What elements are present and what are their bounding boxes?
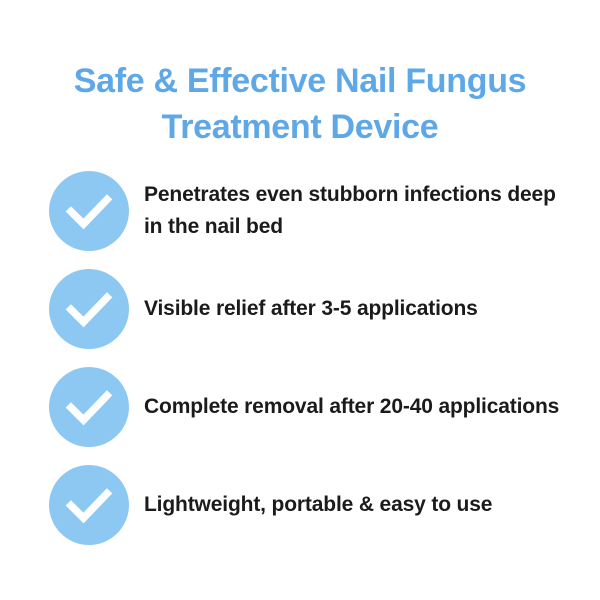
promo-poster: Safe & Effective Nail Fungus Treatment D…	[0, 0, 600, 600]
check-icon	[49, 367, 129, 447]
check-icon	[49, 171, 129, 251]
page-title-line-1: Safe & Effective Nail Fungus	[55, 58, 545, 104]
benefit-text: Lightweight, portable & easy to use	[144, 489, 600, 521]
benefit-list: Penetrates even stubborn infections deep…	[0, 162, 600, 554]
page-title-line-2: Treatment Device	[55, 104, 545, 150]
list-item: Complete removal after 20-40 application…	[0, 358, 600, 456]
check-icon	[49, 465, 129, 545]
list-item: Lightweight, portable & easy to use	[0, 456, 600, 554]
page-title: Safe & Effective Nail Fungus Treatment D…	[55, 58, 545, 150]
benefit-text: Complete removal after 20-40 application…	[144, 391, 600, 423]
benefit-text: Visible relief after 3-5 applications	[144, 293, 600, 325]
list-item: Penetrates even stubborn infections deep…	[0, 162, 600, 260]
list-item: Visible relief after 3-5 applications	[0, 260, 600, 358]
check-icon	[49, 269, 129, 349]
benefit-text: Penetrates even stubborn infections deep…	[144, 179, 600, 243]
